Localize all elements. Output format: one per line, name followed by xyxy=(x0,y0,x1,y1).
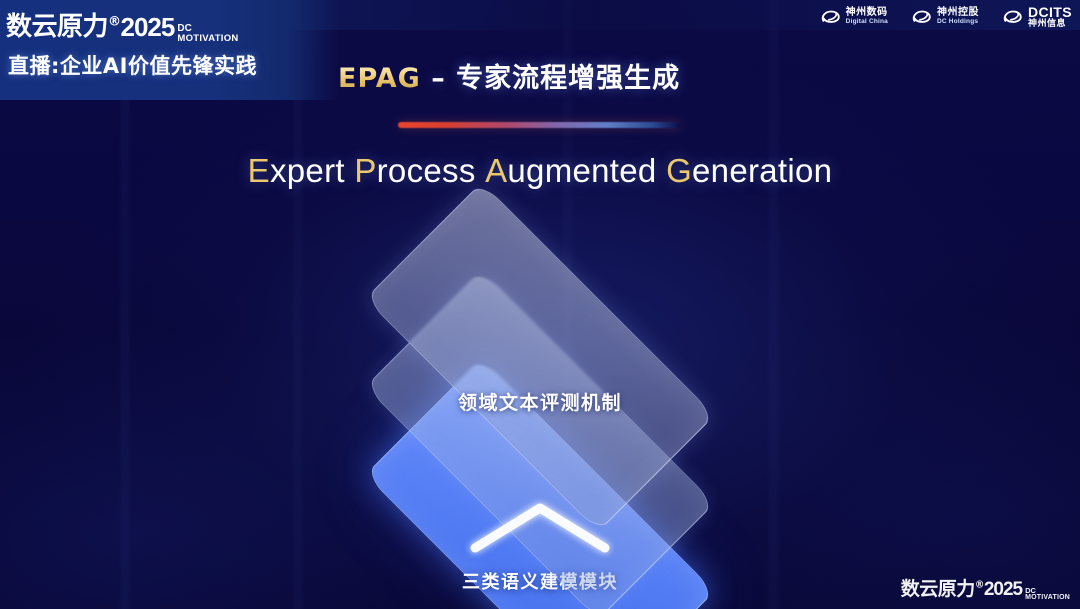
layered-architecture-diagram: 三类语义建模模块 领域文本评测机制 Dynamic MOE 长文本记忆 xyxy=(0,228,1080,568)
partner-label: DCITS 神州信息 xyxy=(1028,5,1072,29)
partner-label: 神州数码 Digital China xyxy=(846,8,888,25)
watermark-brand-cn-text: 数云原力 xyxy=(901,578,975,600)
watermark-reg-mark: ® xyxy=(975,580,984,591)
live-session-title: 直播:企业AI价值先锋实践 xyxy=(8,50,257,80)
page-subtitle: Expert Process Augmented Generation xyxy=(0,152,1080,190)
subtitle-word-generation: eneration xyxy=(692,152,832,189)
page-title: EPAG – 专家流程增强生成 xyxy=(338,56,680,95)
brand-logo-motivation: MOTIVATION xyxy=(177,34,238,44)
subtitle-cap-p: P xyxy=(354,152,376,189)
swirl-logo-icon xyxy=(1001,6,1023,28)
swirl-logo-icon xyxy=(910,6,932,28)
watermark-year: 2025 xyxy=(984,579,1022,601)
brand-logo-dc-block: DC MOTIVATION xyxy=(177,24,238,44)
brand-logo-year: 2025 xyxy=(121,12,175,43)
partner-logo-group: 神州数码 Digital China 神州控股 DC Holdings DCIT… xyxy=(819,5,1072,29)
partner-name-en: DCITS xyxy=(1028,5,1072,20)
partner-logo-digital-china: 神州数码 Digital China xyxy=(819,6,888,28)
watermark-brand-cn: 数云原力® xyxy=(901,574,984,601)
diagram-layer-top[interactable]: 领域文本评测机制 xyxy=(375,192,705,522)
partner-logo-dcits: DCITS 神州信息 xyxy=(1001,5,1072,29)
watermark-motivation: MOTIVATION xyxy=(1025,594,1070,601)
subtitle-word-process: rocess xyxy=(377,152,476,189)
gradient-divider xyxy=(398,122,681,128)
watermark-brand-logo: 数云原力® 2025 DC MOTIVATION xyxy=(901,574,1070,601)
brand-logo-dc: DC xyxy=(177,24,238,34)
partner-name-en: Digital China xyxy=(846,19,888,26)
brand-logo: 数云原力® 2025 DC MOTIVATION xyxy=(6,6,239,43)
partner-name-en: DC Holdings xyxy=(937,19,979,26)
subtitle-cap-g: G xyxy=(666,152,692,189)
watermark-dc: DC xyxy=(1025,587,1070,595)
brand-logo-cn: 数云原力® xyxy=(6,6,121,43)
page-title-chinese: – 专家流程增强生成 xyxy=(421,63,680,94)
partner-logo-dc-holdings: 神州控股 DC Holdings xyxy=(910,6,979,28)
partner-name-cn: 神州信息 xyxy=(1028,20,1072,29)
slide-canvas: 数云原力® 2025 DC MOTIVATION 直播:企业AI价值先锋实践 神… xyxy=(0,0,1080,609)
watermark-dc-block: DC MOTIVATION xyxy=(1025,587,1070,602)
page-title-acronym: EPAG xyxy=(338,63,421,94)
brand-logo-reg-mark: ® xyxy=(108,14,121,29)
subtitle-word-augmented: ugmented xyxy=(507,152,656,189)
subtitle-word-expert: xpert xyxy=(270,152,345,189)
brand-logo-cn-text: 数云原力 xyxy=(6,12,108,42)
subtitle-cap-a: A xyxy=(485,152,507,189)
partner-label: 神州控股 DC Holdings xyxy=(937,8,979,25)
subtitle-cap-e: E xyxy=(248,152,270,189)
swirl-logo-icon xyxy=(819,6,841,28)
diagram-layer-top-plate xyxy=(365,182,715,532)
